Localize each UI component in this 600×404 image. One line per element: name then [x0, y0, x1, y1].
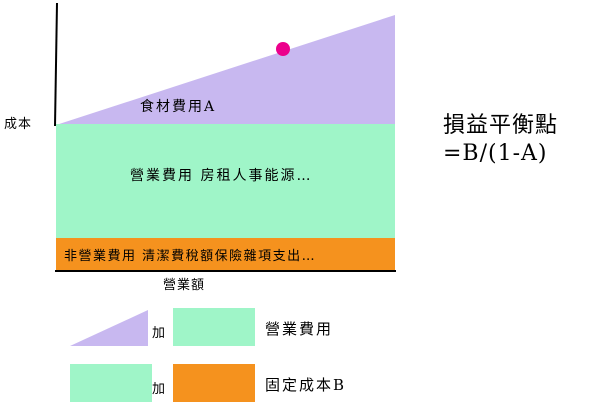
y-axis-line — [55, 3, 57, 126]
x-axis-label: 營業額 — [163, 274, 205, 293]
legend-orange-swatch — [173, 364, 255, 402]
y-axis-label: 成本 — [4, 113, 32, 132]
variable-cost-area — [56, 15, 395, 125]
legend-label-operating: 營業費用 — [265, 318, 333, 339]
non-operating-cost-label: 非營業費用 清潔費稅額保險雜項支出… — [64, 245, 316, 264]
operating-cost-label: 營業費用 房租人事能源… — [130, 165, 312, 185]
diagram-canvas: 成本 營業額 食材費用A 營業費用 房租人事能源… 非營業費用 清潔費稅額保險雜… — [0, 0, 600, 404]
formula-line-2: =B/(1-A) — [443, 140, 558, 168]
legend-plus-2: 加 — [152, 378, 165, 397]
legend-green-swatch-2 — [70, 364, 152, 402]
break-even-formula: 損益平衡點 =B/(1-A) — [443, 112, 558, 167]
formula-line-1: 損益平衡點 — [443, 112, 558, 140]
legend-label-fixed-cost: 固定成本B — [265, 374, 346, 395]
break-even-point-marker[interactable] — [276, 42, 290, 56]
legend-green-swatch-1 — [173, 308, 255, 346]
variable-cost-label: 食材費用A — [140, 96, 216, 116]
legend-triangle-swatch — [68, 306, 150, 348]
legend-plus-1: 加 — [152, 322, 165, 341]
